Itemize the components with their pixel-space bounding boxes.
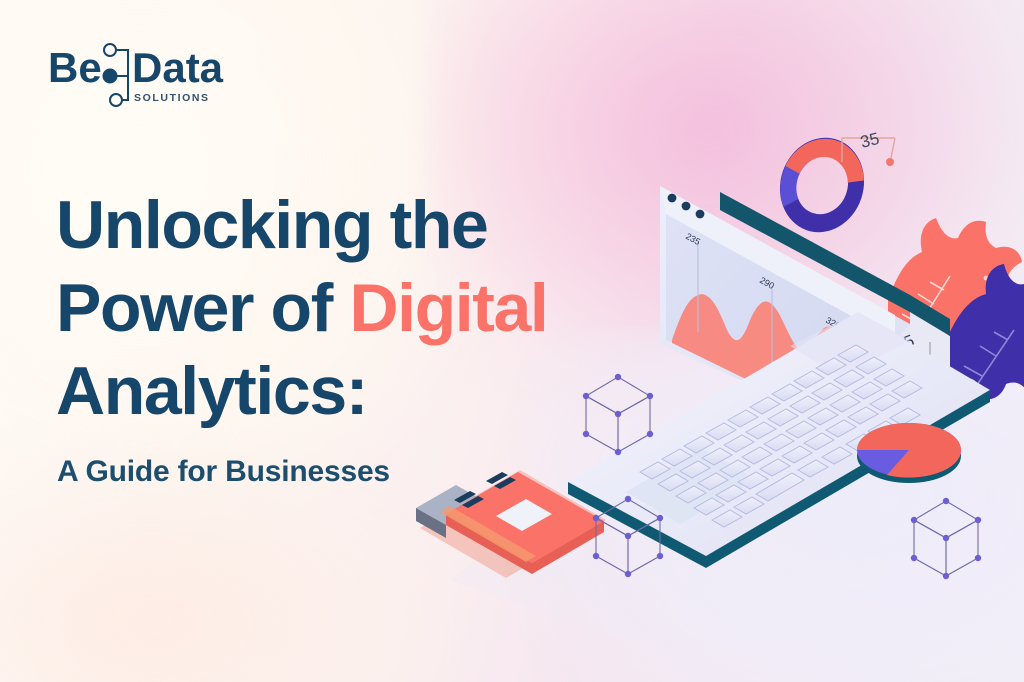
browser-dot-3 [696, 210, 705, 219]
pie-chart-disc [857, 423, 961, 483]
page-subtitle: A Guide for Businesses [57, 455, 390, 489]
logo-node-graphic [104, 44, 129, 106]
browser-dot-1 [668, 194, 677, 203]
logo-text-be: Be [48, 44, 102, 91]
browser-dot-2 [682, 202, 691, 211]
hero-illustration: 35 [390, 100, 1024, 660]
poster-canvas: Be Data SOLUTIONS Unlocking the Power of… [0, 0, 1024, 682]
headline-line-3-text: Analytics: [56, 353, 367, 429]
logo-text-data: Data [132, 44, 224, 91]
brand-logo[interactable]: Be Data SOLUTIONS [48, 38, 248, 108]
headline-line-2-dark: Power of [56, 270, 349, 346]
logo-tagline: SOLUTIONS [134, 92, 210, 104]
donut-label-35: 35 [858, 129, 881, 152]
donut-chart [777, 133, 867, 236]
